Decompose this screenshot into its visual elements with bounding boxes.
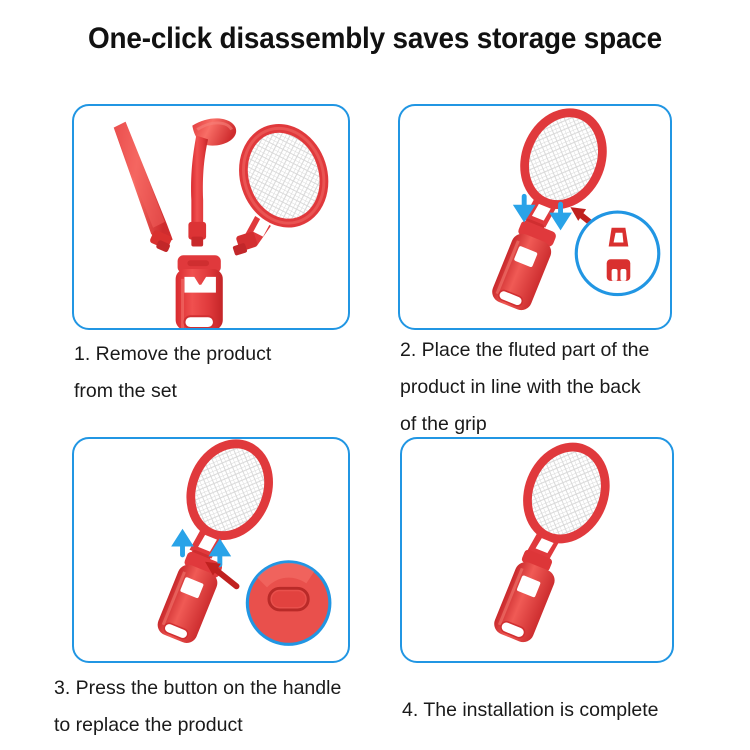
step-1-caption-line-2: from the set	[74, 373, 271, 410]
step-2-caption: 2. Place the fluted part of the product …	[400, 332, 649, 443]
step-panel-3	[72, 437, 350, 663]
step-panel-4	[400, 437, 674, 663]
step-panel-2	[398, 104, 672, 330]
step-2-caption-line-1: 2. Place the fluted part of the	[400, 332, 649, 369]
step-3-caption-line-1: 3. Press the button on the handle	[54, 670, 341, 707]
page-title: One-click disassembly saves storage spac…	[26, 22, 724, 56]
tennis-racket-attachment	[164, 439, 282, 580]
step-panel-1	[72, 104, 350, 330]
step-1-caption-line-1: 1. Remove the product	[74, 336, 271, 373]
step-3-caption-line-2: to replace the product	[54, 707, 341, 744]
step-1-illustration	[74, 106, 348, 328]
golf-club-attachment	[188, 118, 236, 246]
circle-callout-release-button	[247, 562, 330, 645]
sword-blade-attachment	[114, 122, 173, 253]
joycon-grip	[489, 219, 559, 314]
step-2-illustration	[400, 106, 670, 328]
step-4-illustration	[402, 439, 672, 661]
blue-up-arrow	[176, 533, 190, 555]
tennis-racket-attachment	[231, 118, 335, 256]
step-1-caption: 1. Remove the product from the set	[74, 336, 271, 410]
step-4-caption-line-1: 4. The installation is complete	[402, 692, 659, 729]
circle-callout-fluted-connector	[576, 212, 659, 295]
step-3-caption: 3. Press the button on the handle to rep…	[54, 670, 341, 744]
blue-down-arrow	[517, 196, 531, 218]
step-4-caption: 4. The installation is complete	[402, 692, 659, 729]
assembled-racket-controller	[474, 439, 619, 651]
joycon-grip	[176, 255, 223, 328]
step-2-caption-line-2: product in line with the back	[400, 369, 649, 406]
step-3-illustration	[74, 439, 348, 661]
